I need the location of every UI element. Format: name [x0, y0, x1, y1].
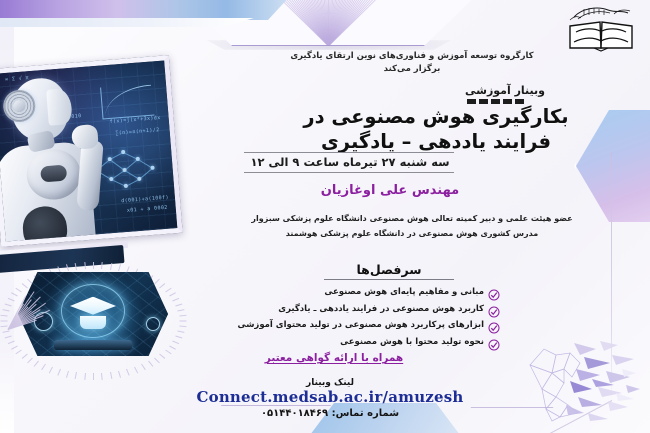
graduation-cap-image — [18, 272, 168, 356]
top-left-gradient-band — [0, 0, 292, 20]
topic-label: نحوه تولید محتوا با هوش مصنوعی — [340, 337, 484, 347]
webinar-label: وبینار آموزشی — [390, 84, 620, 97]
date-rule-top — [244, 152, 454, 153]
graph-curve-icon — [100, 84, 154, 120]
graduation-hexagon-frame — [10, 264, 176, 364]
right-diagonal-rule — [527, 400, 612, 433]
checkmark-icon — [488, 286, 500, 298]
robot-card-bottom-strip — [0, 245, 125, 273]
robot-image: f(x)=∫(x²+3x)dx ∑(n)=n(n+1)/2 d(001)+a(1… — [0, 55, 183, 247]
credentials-line-2: مدرس کشوری هوش مصنوعی در دانشگاه علوم پز… — [202, 227, 622, 242]
page-title: بکارگیری هوش مصنوعی در فرایند یاددهی – ی… — [244, 105, 628, 155]
speaker-name: مهندس علی اوغازیان — [240, 183, 540, 198]
webinar-link-label: لینک وبینار — [260, 378, 400, 388]
checkmark-icon — [488, 303, 500, 315]
organizer-line: کارگروه توسعه آموزش و فناوری‌های نوین ار… — [202, 50, 622, 76]
date-line: سه شنبه ۲۷ تیرماه ساعت ۹ الی ۱۲ — [200, 155, 500, 169]
list-item: ابزارهای پرکاربرد هوش مصنوعی در تولید مح… — [170, 318, 500, 332]
bottom-hexagon-outline-right — [452, 407, 572, 433]
webinar-poster: f(x)=∫(x²+3x)dx ∑(n)=n(n+1)/2 d(001)+a(1… — [0, 0, 650, 433]
top-hexagon-rays-decoration — [178, 0, 478, 46]
left-edge-strip — [0, 0, 14, 433]
molecule-diagram-icon — [89, 143, 162, 192]
contact-phone: شماره تماس: ۰۵۱۴۴۰۱۸۴۶۹ — [210, 408, 450, 419]
university-logo-icon — [564, 4, 638, 52]
low-poly-head-icon — [522, 335, 642, 427]
topic-label: ابزارهای پرکاربرد هوش مصنوعی در تولید مح… — [237, 320, 484, 330]
topics-heading: سرفصل‌ها — [324, 262, 454, 277]
topic-label: کاربرد هوش مصنوعی در فرایند یاددهی ـ یاد… — [278, 304, 484, 314]
credentials-line-1: عضو هیئت علمی و دبیر کمیته تعالی هوش مصن… — [202, 212, 622, 227]
webinar-dashes-decoration — [467, 99, 524, 104]
topics-list: مبانی و مفاهیم پایه‌ای هوش مصنوعی کاربرد… — [170, 285, 500, 351]
topic-label: مبانی و مفاهیم پایه‌ای هوش مصنوعی — [324, 287, 484, 297]
robot-card-bottom-edge — [0, 241, 128, 258]
top-hexagon-shadow — [176, 40, 482, 50]
list-item: مبانی و مفاهیم پایه‌ای هوش مصنوعی — [170, 285, 500, 299]
checkmark-icon — [488, 319, 500, 331]
graduation-cap-icon — [70, 297, 116, 315]
right-vertical-rule — [611, 152, 612, 402]
certificate-note: همراه با ارائه گواهی معتبر — [194, 352, 474, 364]
date-rule-bottom — [244, 172, 454, 173]
checkmark-icon — [488, 336, 500, 348]
webinar-link-url[interactable]: Connect.medsab.ac.ir/amuzesh — [160, 388, 500, 406]
speaker-credentials: عضو هیئت علمی و دبیر کمیته تعالی هوش مصن… — [202, 212, 622, 242]
list-item: کاربرد هوش مصنوعی در فرایند یاددهی ـ یاد… — [170, 302, 500, 316]
topics-heading-rule — [324, 279, 454, 280]
list-item: نحوه تولید محتوا با هوش مصنوعی — [170, 335, 500, 349]
fan-lines-decoration — [8, 286, 64, 330]
graduation-hexagon-ticks — [2, 256, 184, 372]
top-left-gradient-band-secondary — [0, 18, 254, 27]
